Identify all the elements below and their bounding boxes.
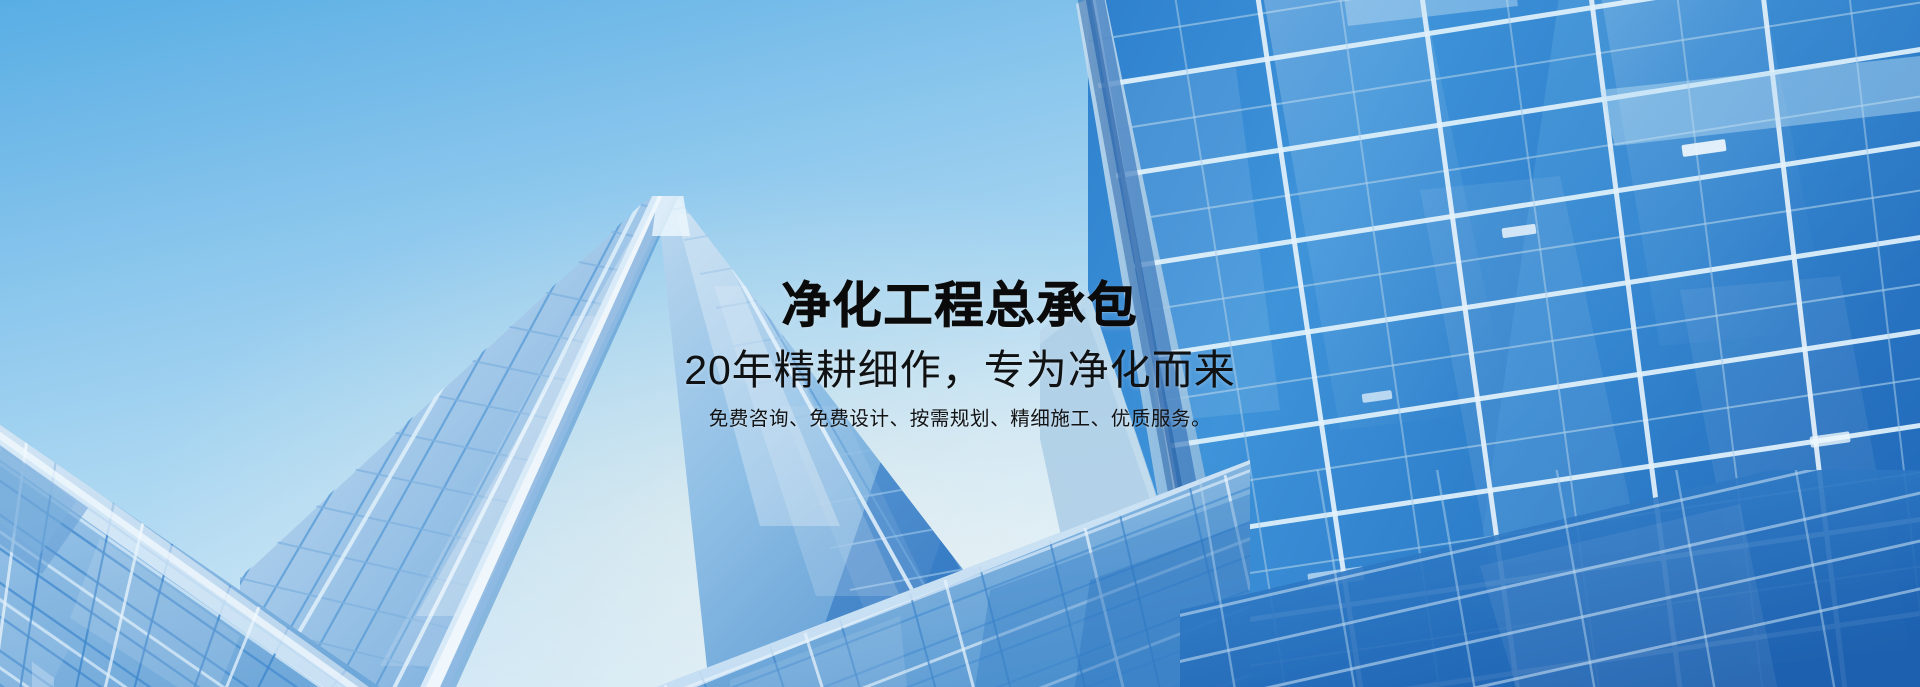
page-title: 净化工程总承包 <box>0 282 1920 332</box>
hero-banner: 净化工程总承包 20年精耕细作，专为净化而来 免费咨询、免费设计、按需规划、精细… <box>0 0 1920 687</box>
hero-subheadline: 20年精耕细作，专为净化而来 <box>0 346 1920 394</box>
hero-tagline: 免费咨询、免费设计、按需规划、精细施工、优质服务。 <box>0 407 1920 432</box>
lower-right-glass-facade <box>430 430 1250 687</box>
bottom-right-dark-glass <box>1180 470 1920 687</box>
hero-copy-block: 净化工程总承包 20年精耕细作，专为净化而来 免费咨询、免费设计、按需规划、精细… <box>0 282 1920 433</box>
